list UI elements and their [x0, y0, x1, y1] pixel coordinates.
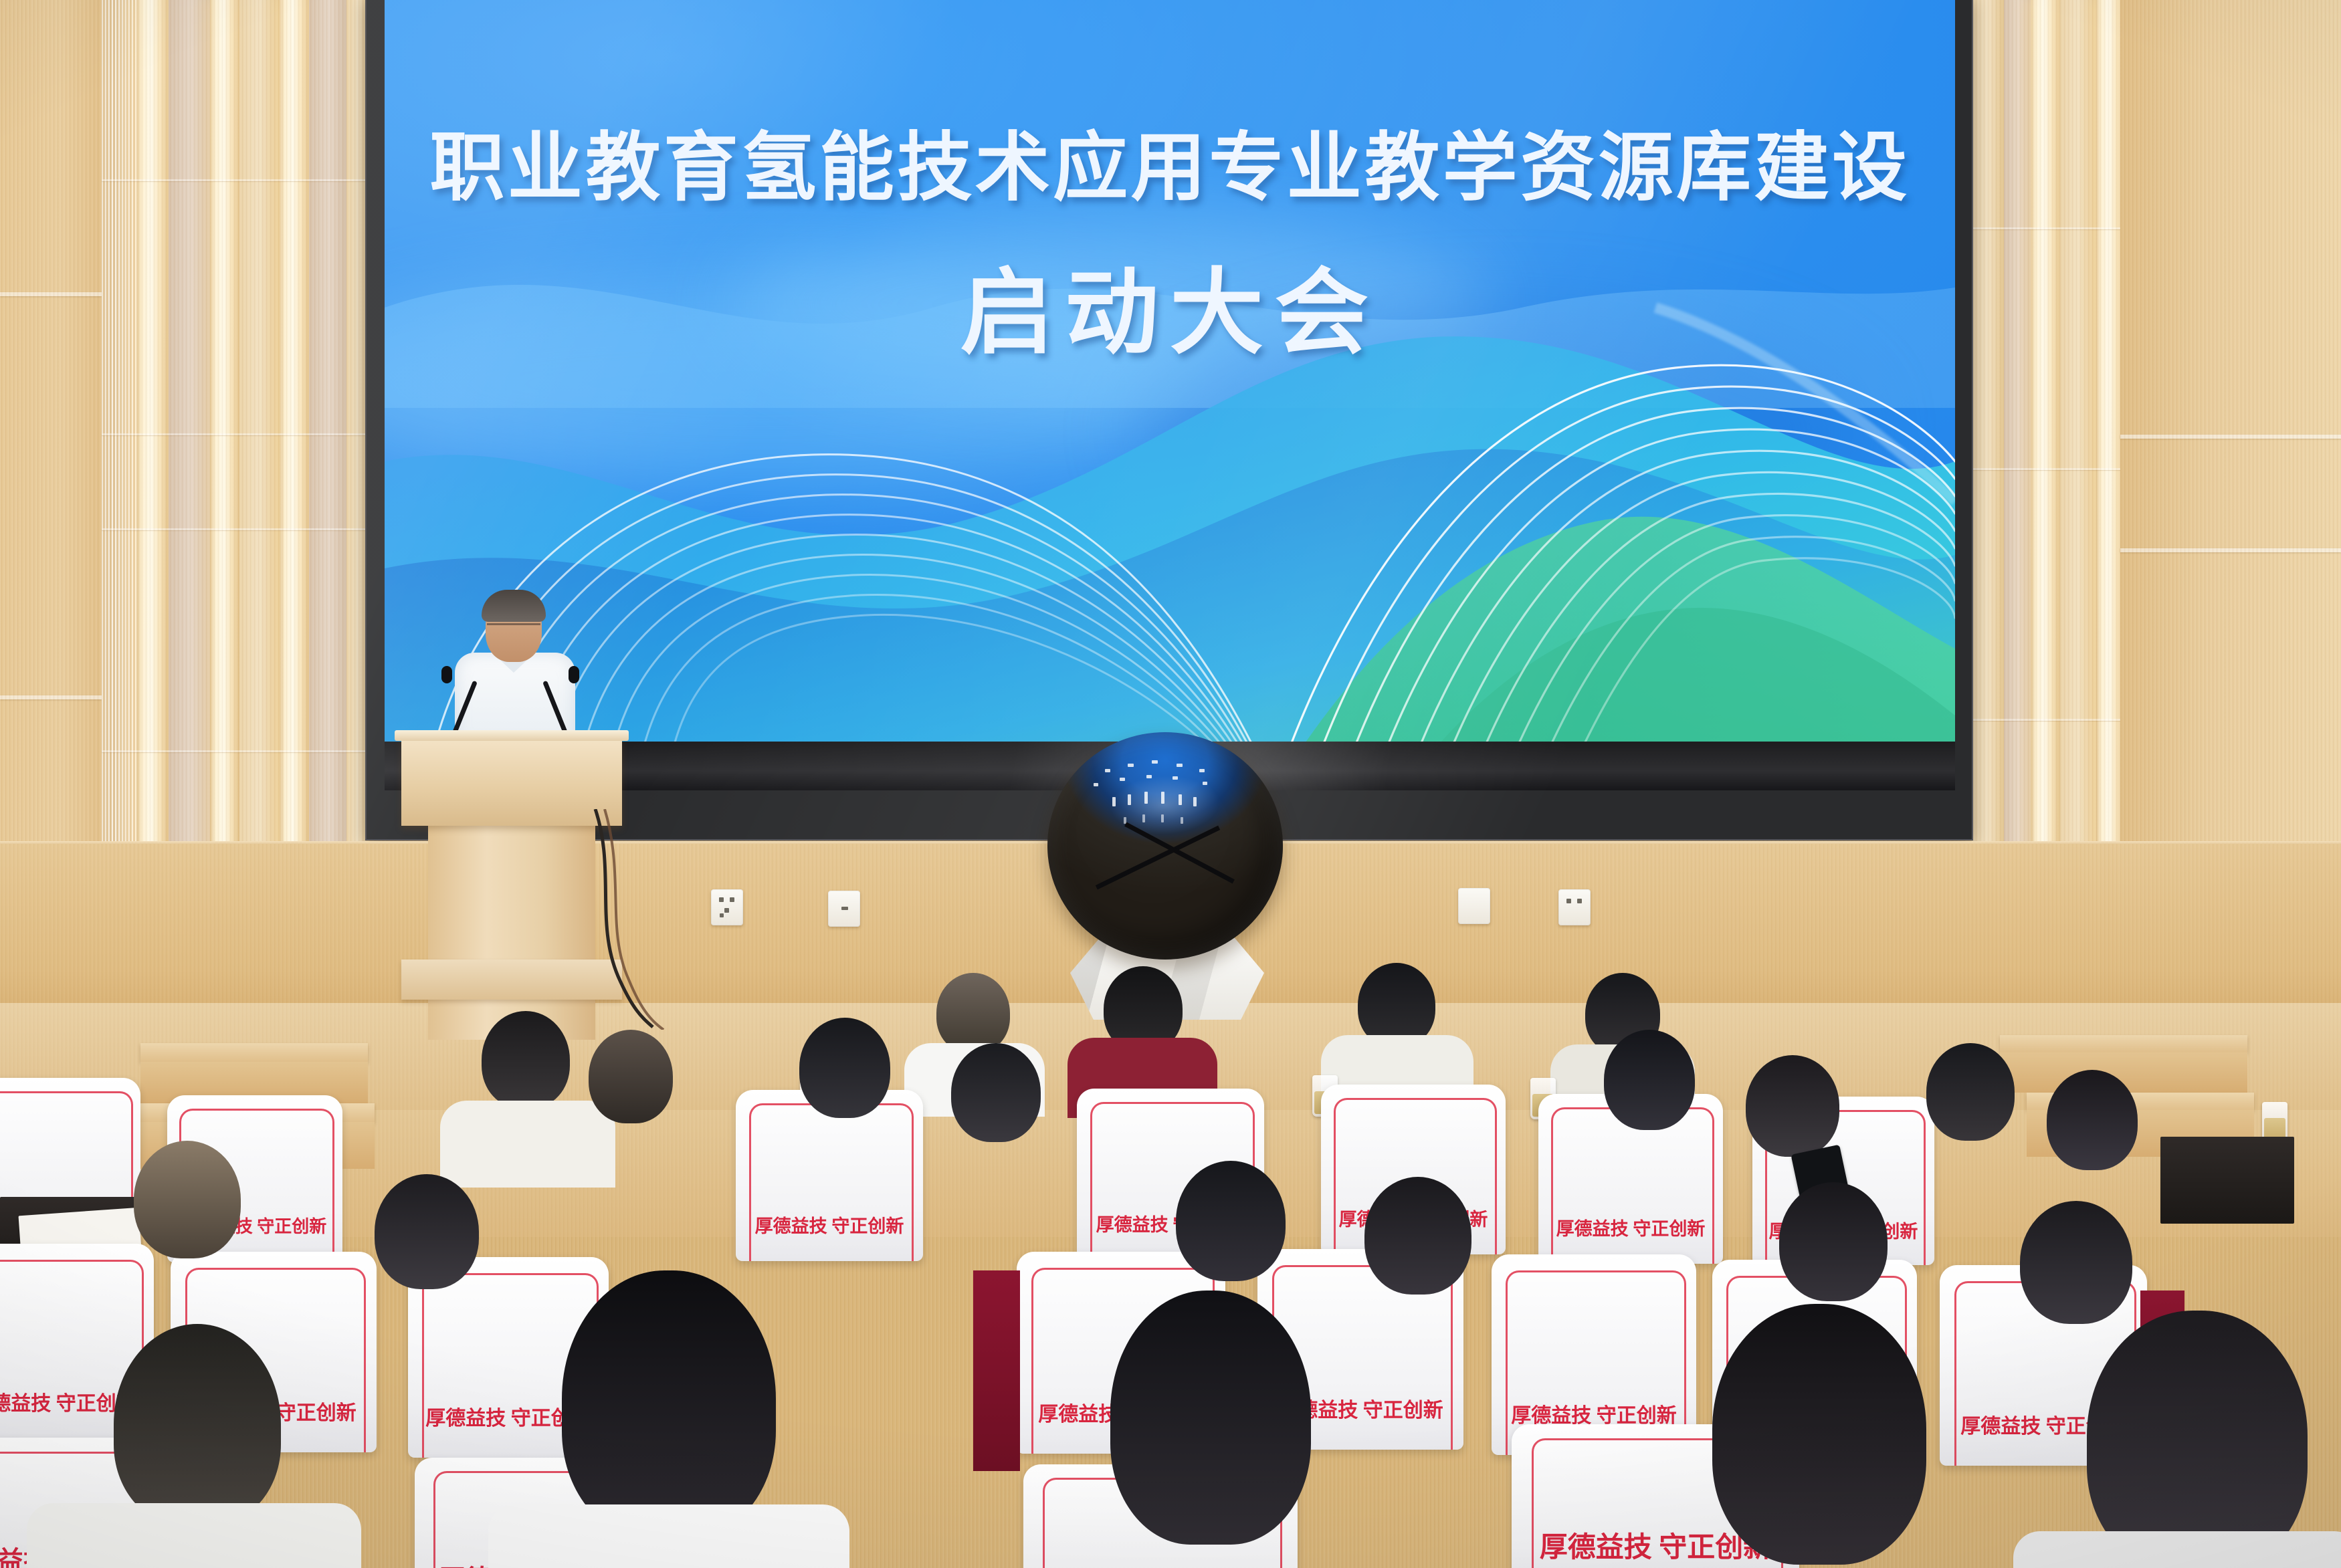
conference-hall-photo: 职业教育氢能技术应用专业教学资源库建设 启动大会 — [0, 0, 2341, 1568]
screen-title-line1: 职业教育氢能技术应用专业教学资源库建设 — [385, 107, 1955, 215]
speaker-at-podium — [428, 588, 602, 742]
microphone-right-capsule — [569, 666, 579, 683]
stage-step-right-upper — [2000, 1035, 2247, 1052]
audience-head — [375, 1174, 479, 1289]
audience-head — [134, 1141, 241, 1258]
reflective-sphere-sculpture — [1047, 732, 1283, 960]
chair-cover-text: 厚德益技 守正创新 — [1538, 1214, 1723, 1240]
wall-socket-right[interactable] — [828, 891, 860, 927]
audience-shoulders-foreground — [27, 1503, 361, 1568]
audience-head — [1364, 1177, 1471, 1295]
speaker-glasses — [487, 623, 540, 636]
led-screen: 职业教育氢能技术应用专业教学资源库建设 启动大会 — [385, 0, 1955, 790]
audience-shoulders — [440, 1101, 615, 1188]
audience-head-foreground — [1110, 1291, 1311, 1545]
audience-head — [936, 973, 1010, 1053]
wall-seam-left — [0, 292, 102, 296]
wall-socket-far-right-b[interactable] — [1558, 889, 1591, 925]
screen-title-line2: 启动大会 — [385, 237, 1955, 372]
speaker-hair — [482, 590, 546, 622]
audience-head — [589, 1030, 673, 1123]
wall-seam-right — [2120, 435, 2341, 439]
audience-head-foreground — [562, 1270, 776, 1538]
audience-head — [1746, 1055, 1839, 1157]
podium-cable — [589, 809, 722, 1030]
audience-head — [1926, 1043, 2015, 1141]
audience-head — [799, 1018, 890, 1118]
sphere-rim-light — [1047, 732, 1283, 960]
audience-shoulders-foreground — [2013, 1531, 2341, 1568]
audience-head — [1604, 1030, 1695, 1130]
led-screen-bezel: 职业教育氢能技术应用专业教学资源库建设 启动大会 — [367, 0, 1972, 839]
audience-head-foreground — [1712, 1304, 1926, 1565]
audience-head — [1176, 1161, 1286, 1281]
stage-step-left-upper — [140, 1043, 368, 1062]
microphone-left-capsule — [441, 666, 452, 683]
podium-top-edge — [395, 730, 629, 741]
audience-head — [951, 1043, 1041, 1142]
audience-head-foreground — [114, 1324, 281, 1525]
audience-shoulders-foreground — [488, 1504, 849, 1568]
wall-socket-far-right-a[interactable] — [1458, 888, 1490, 924]
aisle-seat-side — [973, 1270, 1020, 1471]
audience-head-foreground — [2087, 1311, 2308, 1568]
audience-head — [2047, 1070, 2138, 1170]
wall-seam-left-2 — [0, 695, 102, 699]
audience-head — [1779, 1182, 1888, 1301]
desk-surface — [2160, 1137, 2294, 1224]
chair-cover-text: 厚德益技 守正创新 — [736, 1212, 923, 1238]
audience-head — [482, 1011, 570, 1109]
audience-head — [2020, 1201, 2132, 1324]
wall-seam-right-2 — [2120, 548, 2341, 552]
chair-cover-text: 厚德益技 守正创新 — [1023, 1565, 1298, 1568]
